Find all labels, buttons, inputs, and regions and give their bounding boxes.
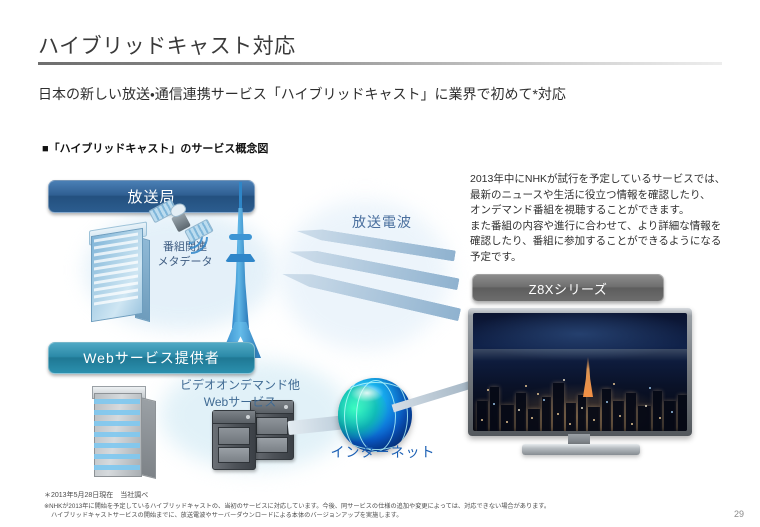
- description-line-2: 最新のニュースや生活に役立つ情報を確認したり、: [470, 188, 732, 204]
- page-title: ハイブリッドキャスト対応: [38, 30, 296, 60]
- television-image: [468, 308, 692, 458]
- building2-side: [140, 397, 156, 479]
- description-line-5: 確認したり、番組に参加することができるようになる: [470, 234, 732, 250]
- description-line-4: また番組の内容や進行に合わせて、より詳細な情報を: [470, 219, 732, 235]
- building2-windows: [94, 393, 140, 475]
- slide-root: ハイブリッドキャスト対応 日本の新しい放送・通信連携サービス「ハイブリッドキャス…: [0, 0, 760, 527]
- broadcaster-building-icon: [85, 222, 151, 320]
- web-provider-label-text: Webサービス提供者: [83, 348, 220, 368]
- footnote-2: ※NHKが2013年に開始を予定しているハイブリッドキャストの、当初のサービスに…: [44, 502, 734, 511]
- broadcast-tower-icon: [212, 182, 270, 357]
- web-provider-building-icon: [90, 385, 160, 480]
- service-description: 2013年中にNHKが試行を予定しているサービスでは、 最新のニュースや生活に役…: [470, 172, 732, 265]
- globe-specular-shine: [350, 384, 384, 402]
- tower-mast: [239, 182, 242, 212]
- tower-shaft: [232, 208, 249, 328]
- vod-webservice-label: ビデオオンデマンド他 Webサービス: [160, 377, 320, 411]
- internet-label: インターネット: [318, 445, 448, 460]
- building-windows: [91, 228, 141, 320]
- tv-screen-cityscape: [473, 313, 687, 431]
- server-led: [246, 415, 250, 419]
- tv-model-label-text: Z8Xシリーズ: [529, 279, 608, 298]
- web-provider-label-pill: Webサービス提供者: [48, 342, 255, 374]
- description-line-6: 予定です。: [470, 250, 732, 266]
- server-icon: [212, 410, 256, 470]
- footnote-1: ＊2013年5月28日現在 当社調べ: [44, 491, 734, 501]
- internet-globe-icon: [320, 372, 430, 477]
- footnote-3: ハイブリッドキャストサービスの開始までに、放送電波やサーバーダウンロードによる本…: [44, 511, 734, 520]
- satellite-icon: [148, 192, 214, 252]
- vod-label-line2: Webサービス: [160, 394, 320, 411]
- broadcast-wave-label: 放送電波: [330, 215, 434, 230]
- page-subtitle: 日本の新しい放送・通信連携サービス「ハイブリッドキャスト」に業界で初めて*対応: [38, 84, 566, 104]
- footnotes: ＊2013年5月28日現在 当社調べ ※NHKが2013年に開始を予定しているハ…: [44, 491, 734, 520]
- description-line-3: オンデマンド番組を視聴することができます。: [470, 203, 732, 219]
- section-heading: ■「ハイブリッドキャスト」のサービス概念図: [42, 140, 268, 156]
- title-divider: [38, 62, 722, 65]
- tv-stand: [522, 444, 640, 455]
- page-number: 29: [734, 509, 744, 519]
- screen-city-lights: [473, 351, 687, 431]
- tower-lower-deck: [225, 254, 256, 262]
- tv-model-label-pill: Z8Xシリーズ: [472, 274, 664, 302]
- vod-label-line1: ビデオオンデマンド他: [160, 377, 320, 394]
- tower-upper-deck: [229, 234, 252, 240]
- globe-sphere: [338, 378, 412, 452]
- description-line-1: 2013年中にNHKが試行を予定しているサービスでは、: [470, 172, 732, 188]
- broadcast-wave-arrows: [280, 232, 480, 324]
